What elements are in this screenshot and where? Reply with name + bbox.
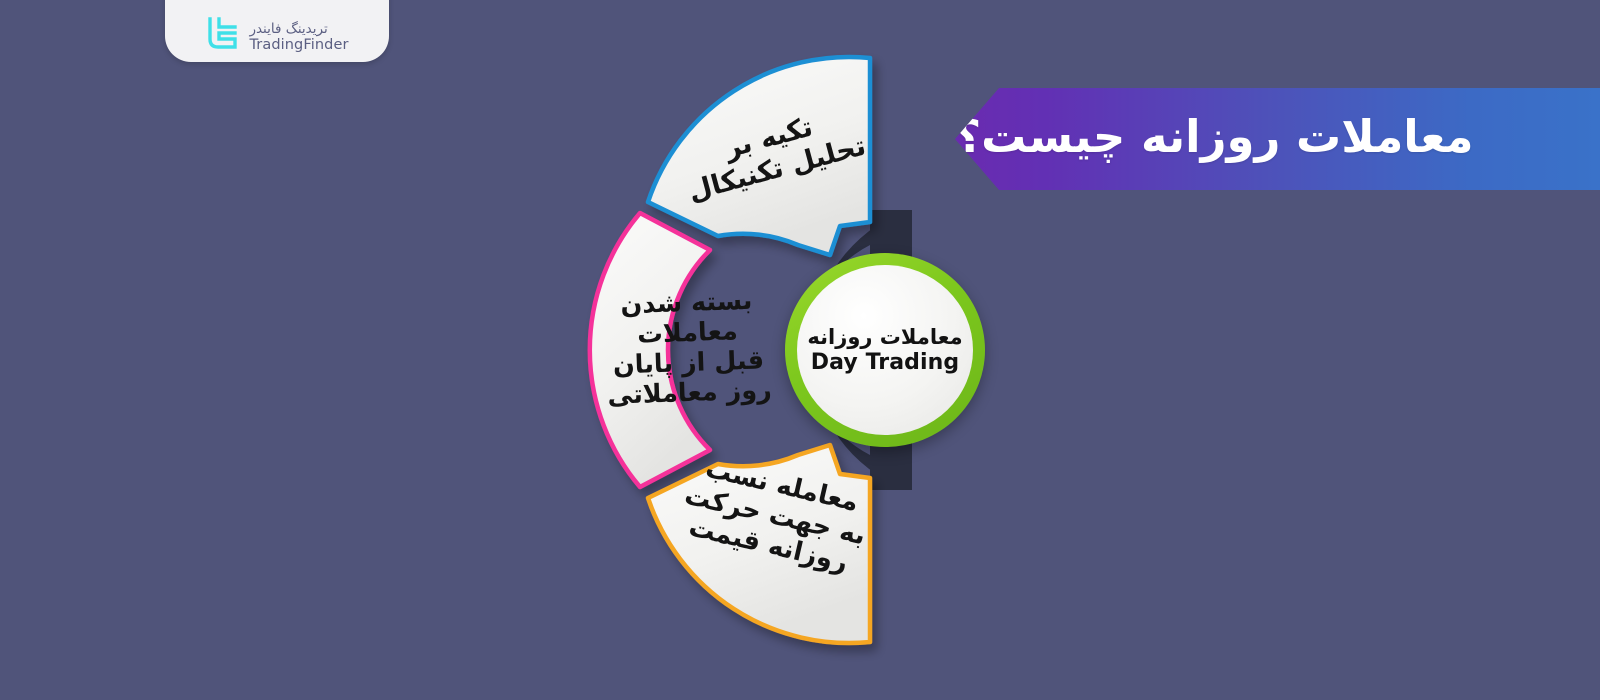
brand-logo-text: تریدینگ فایندر TradingFinder	[249, 22, 348, 53]
brand-name-fa: تریدینگ فایندر	[249, 22, 327, 37]
wheel-center-hub[interactable]: معاملات روزانه Day Trading	[785, 253, 985, 447]
hub-title-en: Day Trading	[811, 350, 960, 375]
hub-title-fa: معاملات روزانه	[807, 325, 962, 349]
tradingfinder-tf-mark-icon	[205, 17, 239, 53]
page-title: معاملات روزانه چیست؟	[955, 110, 1473, 163]
page-title-banner: معاملات روزانه چیست؟	[955, 88, 1600, 190]
infographic-canvas: تریدینگ فایندر TradingFinder معاملات روز…	[0, 0, 1600, 700]
wheel-segment-closing-before-end-of-day[interactable]	[590, 213, 710, 487]
brand-name-en: TradingFinder	[249, 37, 348, 53]
wheel-segment-daily-price-direction[interactable]	[648, 445, 870, 643]
wheel-segment-technical-analysis[interactable]	[648, 57, 870, 255]
hub-face: معاملات روزانه Day Trading	[797, 265, 973, 435]
brand-logo-card[interactable]: تریدینگ فایندر TradingFinder	[165, 0, 389, 62]
